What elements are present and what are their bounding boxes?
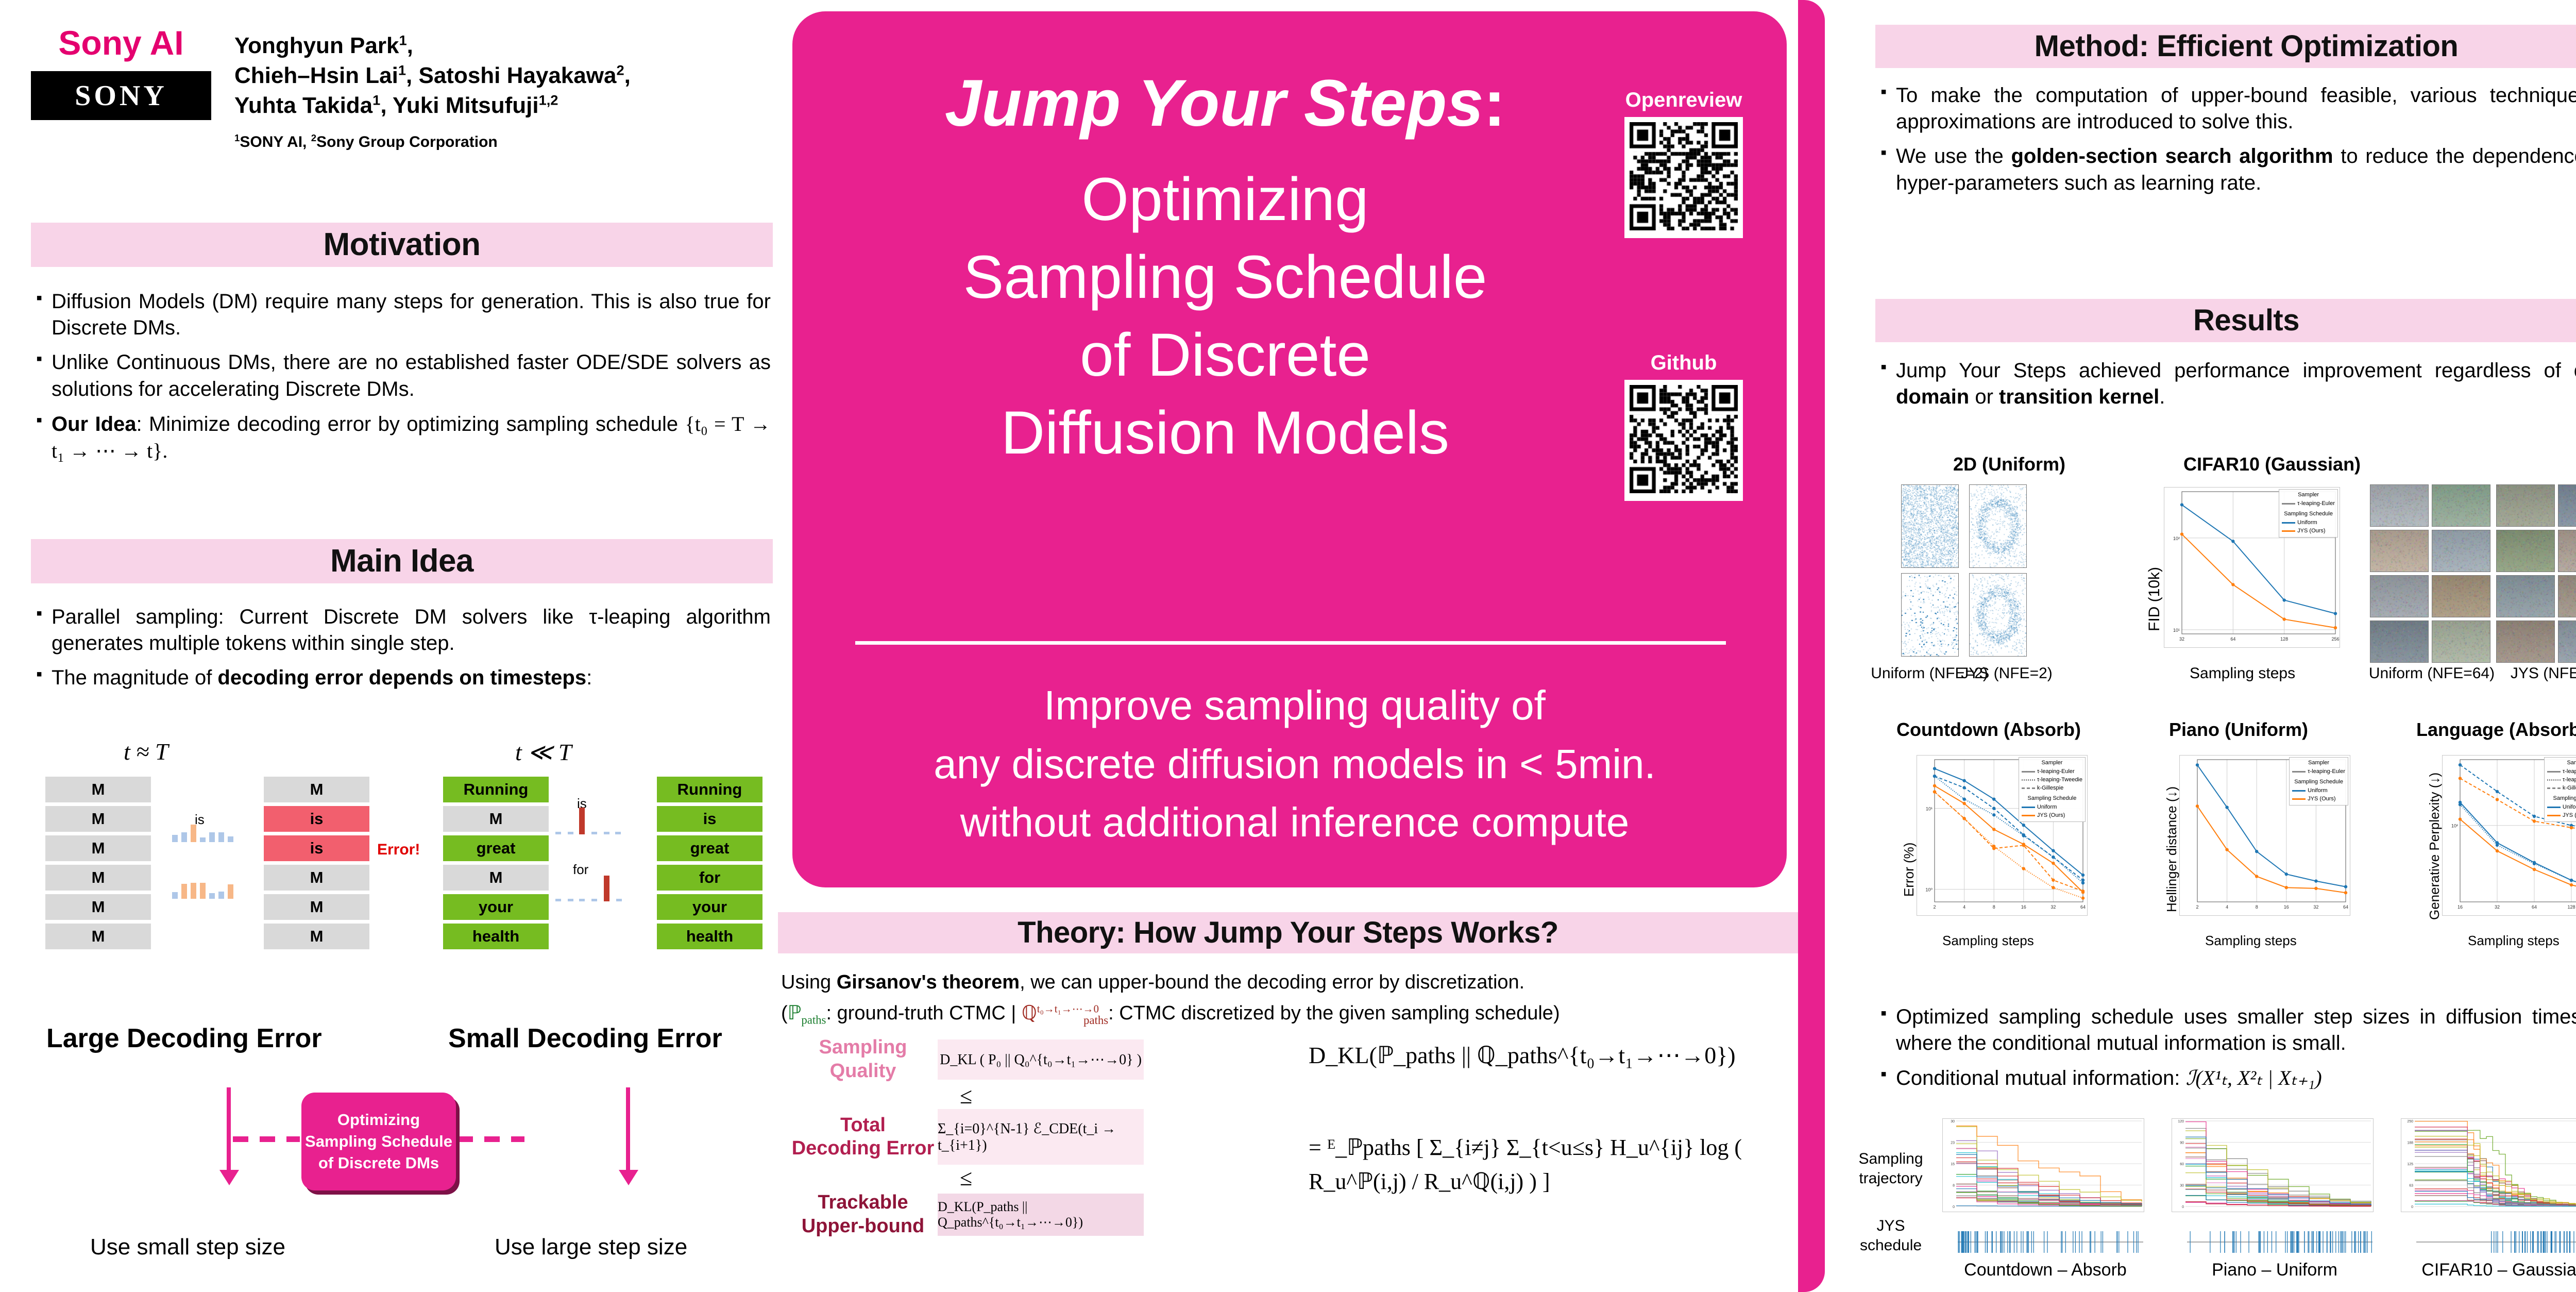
section-header-method: Method: Efficient Optimization xyxy=(1875,25,2576,68)
title-colon: : xyxy=(1483,66,1505,140)
Q-description: : CTMC discretized by the given sampling… xyxy=(1108,1002,1560,1024)
label-line: Total xyxy=(788,1114,938,1137)
Q-symbol: ℚ xyxy=(1022,1002,1037,1024)
section-header-main-idea: Main Idea xyxy=(31,539,773,583)
token-cell: M xyxy=(45,777,151,802)
cifar-thumbnail xyxy=(2497,485,2554,526)
legend-swatch xyxy=(2547,771,2561,773)
token-diagram: t ≈ T t ≪ T MMMMMM MisisMMM Error! is xyxy=(31,738,773,1006)
xlabel-sampling-steps-cifar: Sampling steps xyxy=(2190,665,2295,682)
cifar-sample-tile xyxy=(2432,620,2490,663)
legend-swatch xyxy=(2022,771,2035,773)
cifar-sample-tile xyxy=(2558,575,2576,617)
cifar-thumbnail xyxy=(2497,576,2554,617)
svg-text:0: 0 xyxy=(1953,1205,1955,1209)
scatter-tile-jys-bottom xyxy=(1969,573,2027,657)
svg-text:16: 16 xyxy=(2284,904,2289,910)
svg-text:30: 30 xyxy=(1951,1120,1955,1123)
cifar-thumbnail xyxy=(2558,485,2576,526)
author-list: Yonghyun Park1, Chieh–Hsin Lai1, Satoshi… xyxy=(234,31,760,153)
legend-label: Uniform xyxy=(2037,803,2057,812)
chart-legend: Samplerτ-leaping-Eulerτ-leaping-Tweediek… xyxy=(2544,757,2576,822)
error-label: Error! xyxy=(377,841,420,859)
author-name: Chieh–Hsin Lai xyxy=(234,63,398,88)
poster-tagline: Improve sampling quality of any discrete… xyxy=(841,676,1748,852)
token-column-left-masked: MMMMMM xyxy=(45,777,151,953)
affil-marker-1: 1 xyxy=(234,132,240,143)
xlabel-sampling-steps-language: Sampling steps xyxy=(2468,933,2560,949)
dashed-connector-right xyxy=(457,1136,524,1142)
token-cell: is xyxy=(657,806,762,832)
token-cell: M xyxy=(45,894,151,920)
svg-text:32: 32 xyxy=(2495,904,2500,910)
trajectory-plot-countdown: 08152330 xyxy=(1942,1118,2144,1212)
author-line-1: Yonghyun Park1, xyxy=(234,31,760,61)
legend-entry: τ-leaping-Euler xyxy=(2547,768,2576,776)
bullet-item-our-idea: Our Idea: Minimize decoding error by opt… xyxy=(34,411,771,464)
scatter-canvas xyxy=(1970,485,2026,567)
bullet-item: To make the computation of upper-bound f… xyxy=(1878,82,2576,135)
legend-label: τ-leaping-Euler xyxy=(2308,768,2345,776)
legend-swatch xyxy=(2022,779,2035,781)
schedule-ticks-countdown xyxy=(1958,1229,2143,1255)
xlabel-sampling-steps-countdown: Sampling steps xyxy=(1942,933,2034,949)
author-name: Yuki Mitsufuji xyxy=(393,93,539,118)
transition-kernel-label: transition kernel xyxy=(1999,385,2159,408)
main-idea-bullets: Parallel sampling: Current Discrete DM s… xyxy=(34,604,771,700)
token-cell: M xyxy=(264,894,369,920)
cifar-sample-tile xyxy=(2370,620,2429,663)
token-cell: Running xyxy=(657,777,762,802)
legend-label: τ-leaping-Euler xyxy=(2297,500,2335,508)
legend-label: JYS (Ours) xyxy=(2563,812,2576,820)
decoding-error-label: decoding error depends on timesteps xyxy=(217,666,586,689)
figure-title-cifar10: CIFAR10 (Gaussian) xyxy=(2112,454,2432,475)
cifar-sample-tile xyxy=(2432,530,2490,572)
prob-hist-left-1 xyxy=(170,810,245,842)
svg-text:10⁰: 10⁰ xyxy=(1925,887,1933,893)
t-approx-T-caption: t ≈ T xyxy=(124,738,168,765)
bullet-item: Parallel sampling: Current Discrete DM s… xyxy=(34,604,771,657)
cifar-sample-tile xyxy=(2558,620,2576,663)
P-symbol: ℙ xyxy=(788,1002,802,1024)
cifar-sample-tile xyxy=(2496,575,2555,617)
legend-label: Uniform xyxy=(2563,803,2576,812)
tagline-line: Improve sampling quality of xyxy=(841,676,1748,735)
label-line: JYS xyxy=(1844,1216,1937,1236)
svg-text:23: 23 xyxy=(1951,1142,1955,1145)
figure-title-language: Language (Absorb) xyxy=(2380,719,2576,741)
svg-text:30: 30 xyxy=(2180,1184,2184,1188)
svg-text:32: 32 xyxy=(2179,636,2184,642)
poster-subtitle: Optimizing Sampling Schedule of Discrete… xyxy=(841,161,1609,472)
legend-entry: Uniform xyxy=(2547,803,2576,812)
svg-text:64: 64 xyxy=(2532,904,2537,910)
cifar-thumbnail xyxy=(2370,621,2428,662)
theory-intro: Using Girsanov's theorem, we can upper-b… xyxy=(781,969,1806,1029)
legend-label: k-Gillespie xyxy=(2037,784,2063,793)
bullet-item: The magnitude of decoding error depends … xyxy=(34,665,771,691)
legend-entry: k-Gillespie xyxy=(2547,784,2576,793)
cifar-thumbnail xyxy=(2432,576,2490,617)
token-cell: your xyxy=(657,894,762,920)
svg-text:256: 256 xyxy=(2331,636,2339,642)
trajectory-caption-piano: Piano – Uniform xyxy=(2182,1260,2367,1280)
token-column-left-decoded: MisisMMM xyxy=(264,777,369,953)
hero-divider xyxy=(855,641,1726,645)
scatter-canvas xyxy=(1970,574,2026,656)
our-idea-label: Our Idea xyxy=(52,413,137,435)
cifar-sample-tile xyxy=(2432,484,2490,527)
arrow-head-left xyxy=(219,1170,239,1185)
relation-le-1: ≤ xyxy=(788,1083,1144,1109)
t-much-less-T-caption: t ≪ T xyxy=(515,738,572,766)
trajectory-plot-cifar: 063125188250 xyxy=(2401,1118,2576,1212)
caption-jys-nfe64: JYS (NFE=64) xyxy=(2499,665,2576,682)
github-qr-block[interactable]: Github xyxy=(1624,351,1743,501)
hero-panel: Jump Your Steps: Optimizing Sampling Sch… xyxy=(792,11,1787,887)
scatter-canvas xyxy=(1902,574,1958,656)
poster-root: Sony AI SONY Yonghyun Park1, Chieh–Hsin … xyxy=(0,0,2576,1292)
theory-intro-line: Using Girsanov's theorem, we can upper-b… xyxy=(781,969,1806,997)
results-mid: or xyxy=(1969,385,1999,408)
label-line: Sampling xyxy=(788,1036,938,1060)
token-column-right-masked: RunningMgreatMyourhealth xyxy=(443,777,549,953)
total-decoding-error-label: Total Decoding Error xyxy=(788,1114,938,1161)
cifar-sample-tile xyxy=(2370,484,2429,527)
legend-entry: JYS (Ours) xyxy=(2022,812,2082,820)
chart-language-absorb: 10²163264128256Samplerτ-leaping-Eulerτ-l… xyxy=(2442,755,2576,916)
Q-subscript: paths xyxy=(1083,1014,1108,1027)
legend-entry: Uniform xyxy=(2292,787,2345,795)
cifar-sample-tile xyxy=(2370,530,2429,572)
token-cell: Running xyxy=(443,777,549,802)
token-cell: M xyxy=(264,865,369,891)
legend-swatch xyxy=(2022,807,2035,808)
cmi-formula: ℐ(X¹ₜ, X²ₜ | Xₜ₊₁) xyxy=(2186,1066,2322,1089)
eq-row-3: Trackable Upper-bound D_KL(P_paths || Q_… xyxy=(788,1191,1303,1238)
optimizing-schedule-box: Optimizing Sampling Schedule of Discrete… xyxy=(301,1093,456,1190)
svg-text:32: 32 xyxy=(2313,904,2318,910)
sampling-trajectory-label: Sampling trajectory xyxy=(1839,1149,1942,1188)
legend-swatch xyxy=(2282,503,2295,505)
brand-logos: Sony AI SONY xyxy=(31,14,211,120)
legend-entry: JYS (Ours) xyxy=(2547,812,2576,820)
svg-text:16: 16 xyxy=(2458,904,2463,910)
legend-label: τ-leaping-Tweedie xyxy=(2037,776,2082,784)
author-name: Yuhta Takida xyxy=(234,93,372,118)
author-affil-marker: 2 xyxy=(616,62,624,78)
legend-label: τ-leaping-Euler xyxy=(2563,768,2576,776)
trackable-upper-bound-formula: D_KL(P_paths || Q_paths^{t₀→t₁→⋯→0}) xyxy=(938,1194,1144,1236)
author-line-3: Yuhta Takida1, Yuki Mitsufuji1,2 xyxy=(234,91,760,121)
figure-title-countdown: Countdown (Absorb) xyxy=(1865,719,2112,741)
sampling-quality-label: Sampling Quality xyxy=(788,1036,938,1083)
cifar-sample-tile xyxy=(2558,484,2576,527)
cifar-thumbnail xyxy=(2558,621,2576,662)
legend-label: Uniform xyxy=(2297,519,2317,527)
legend-label: Uniform xyxy=(2308,787,2328,795)
svg-text:10²: 10² xyxy=(2173,536,2180,541)
subtitle-line: of Discrete xyxy=(841,316,1609,394)
token-cell: M xyxy=(443,865,549,891)
svg-text:4: 4 xyxy=(2226,904,2228,910)
legend-label: k-Gillespie xyxy=(2563,784,2576,793)
legend-entry: Uniform xyxy=(2282,519,2335,527)
cifar-thumbnail xyxy=(2432,530,2490,572)
openreview-label: Openreview xyxy=(1624,89,1743,112)
main-equation-lhs: D_KL(ℙ_paths || ℚ_paths^{t₀→t₁→⋯→0}) xyxy=(1309,1041,1803,1069)
svg-text:8: 8 xyxy=(1953,1184,1955,1188)
tagline-line: any discrete diffusion models in < 5min. xyxy=(841,735,1748,794)
svg-text:188: 188 xyxy=(2407,1142,2413,1145)
token-cell: health xyxy=(657,924,762,949)
legend-swatch xyxy=(2282,522,2295,524)
scatter-tile-jys-top xyxy=(1969,484,2027,568)
subtitle-line: Optimizing xyxy=(841,161,1609,239)
motivation-bullets: Diffusion Models (DM) require many steps… xyxy=(34,289,771,473)
xlabel-sampling-steps-piano: Sampling steps xyxy=(2205,933,2297,949)
bullet-item: Diffusion Models (DM) require many steps… xyxy=(34,289,771,341)
chart-legend: Samplerτ-leaping-Eulerτ-leaping-Tweediek… xyxy=(2019,757,2086,822)
svg-text:128: 128 xyxy=(2280,636,2288,642)
legend-entry: τ-leaping-Tweedie xyxy=(2022,776,2082,784)
legend-label: τ-leaping-Tweedie xyxy=(2563,776,2576,784)
caption-uniform-nfe64: Uniform (NFE=64) xyxy=(2365,665,2499,682)
results-pre: Jump Your Steps achieved performance imp… xyxy=(1896,359,2574,382)
svg-text:10²: 10² xyxy=(2451,824,2458,829)
optbox-line-3: of Discrete DMs xyxy=(305,1152,452,1174)
ylabel-fid: FID (10k) xyxy=(2146,567,2163,631)
scatter-tile-uniform-bottom xyxy=(1901,573,1959,657)
total-decoding-error-formula: Σ_{i=0}^{N-1} ℰ_CDE(t_i → t_{i+1}) xyxy=(938,1109,1144,1165)
prob-hist-right-1 xyxy=(552,802,624,834)
cifar-sample-tile xyxy=(2432,575,2490,617)
main-equation: D_KL(ℙ_paths || ℚ_paths^{t₀→t₁→⋯→0}) = ᴱ… xyxy=(1309,1041,1803,1199)
svg-text:63: 63 xyxy=(2409,1184,2413,1188)
cifar-thumbnail xyxy=(2558,530,2576,572)
bullet-item: Conditional mutual information: ℐ(X¹ₜ, X… xyxy=(1878,1065,2576,1092)
cifar-thumbnail xyxy=(2370,530,2428,572)
cifar-sample-tile xyxy=(2496,530,2555,572)
sony-ai-logo: Sony AI xyxy=(31,14,211,71)
subtitle-line: Diffusion Models xyxy=(841,394,1609,472)
github-label: Github xyxy=(1624,351,1743,375)
theory-equation-chain: Sampling Quality D_KL ( P₀ || Q₀^{t₀→t₁→… xyxy=(788,1036,1303,1238)
bullet-item: Jump Your Steps achieved performance imp… xyxy=(1878,358,2576,410)
token-cell: M xyxy=(264,777,369,802)
github-qr-code[interactable] xyxy=(1624,380,1743,501)
affiliations: 1SONY AI, 2Sony Group Corporation xyxy=(234,132,760,153)
scatter-tile-uniform-top xyxy=(1901,484,1959,568)
legend-entry: JYS (Ours) xyxy=(2282,527,2335,535)
legend-entry: τ-leaping-Tweedie xyxy=(2547,776,2576,784)
token-cell: M xyxy=(45,924,151,949)
cifar-thumbnail xyxy=(2497,621,2554,662)
section-header-results: Results xyxy=(1875,299,2576,342)
trajectory-caption-cifar: CIFAR10 – Gaussian xyxy=(2411,1260,2576,1280)
relation-le-2: ≤ xyxy=(788,1165,1144,1191)
bullet-item: Unlike Continuous DMs, there are no esta… xyxy=(34,349,771,402)
svg-text:128: 128 xyxy=(2567,904,2575,910)
P-subscript: paths xyxy=(801,1014,826,1027)
colon-text: : xyxy=(586,666,592,689)
label-line: Upper-bound xyxy=(788,1215,938,1238)
section-header-theory: Theory: How Jump Your Steps Works? xyxy=(778,912,1798,953)
svg-text:4: 4 xyxy=(1963,904,1965,910)
title-emphasis: Jump Your Steps xyxy=(945,66,1484,140)
chart-piano-uniform: 248163264Samplerτ-leaping-EulerSampling … xyxy=(2179,755,2350,916)
our-idea-text: : Minimize decoding error by optimizing … xyxy=(137,413,685,435)
theory-post: , we can upper-bound the decoding error … xyxy=(1020,971,1524,993)
section-header-motivation: Motivation xyxy=(31,223,773,267)
ylabel-error: Error (%) xyxy=(1901,843,1917,897)
token-cell: for xyxy=(657,865,762,891)
theory-pre: Using xyxy=(781,971,837,993)
cifar-sample-tile xyxy=(2496,484,2555,527)
affil-marker-2: 2 xyxy=(311,132,316,143)
label-line: trajectory xyxy=(1839,1169,1942,1188)
token-cell: your xyxy=(443,894,549,920)
label-line: Trackable xyxy=(788,1191,938,1215)
legend-swatch xyxy=(2022,815,2035,816)
affil-text-1: SONY AI, xyxy=(240,133,311,150)
golden-section-label: golden-section search algorithm xyxy=(2011,145,2333,167)
Q-superscript: t₀→t₁→⋯→0 xyxy=(1037,1002,1099,1015)
svg-text:16: 16 xyxy=(2021,904,2026,910)
svg-text:10¹: 10¹ xyxy=(1926,807,1933,812)
token-cell: M xyxy=(264,924,369,949)
author-name: Satoshi Hayakawa xyxy=(418,63,616,88)
subtitle-line: Sampling Schedule xyxy=(841,239,1609,316)
prob-hist-right-2 xyxy=(552,869,624,901)
cifar-thumbnail xyxy=(2497,530,2554,572)
sampling-quality-formula: D_KL ( P₀ || Q₀^{t₀→t₁→⋯→0} ) xyxy=(938,1039,1144,1080)
legend-entry: τ-leaping-Euler xyxy=(2022,768,2082,776)
legend-label: JYS (Ours) xyxy=(2037,812,2065,820)
cifar-sample-tile xyxy=(2496,620,2555,663)
trajectory-caption-countdown: Countdown – Absorb xyxy=(1953,1260,2138,1280)
figure-title-piano: Piano (Uniform) xyxy=(2123,719,2354,741)
cifar-thumbnail xyxy=(2370,485,2428,526)
token-column-right-decoded: Runningisgreatforyourhealth xyxy=(657,777,762,953)
chart-legend: Samplerτ-leaping-EulerSampling ScheduleU… xyxy=(2279,489,2338,538)
legend-open-paren: ( xyxy=(781,1002,788,1024)
legend-swatch xyxy=(2547,779,2561,781)
trackable-upper-bound-label: Trackable Upper-bound xyxy=(788,1191,938,1238)
author-affil-marker: 1 xyxy=(399,32,406,48)
token-cell: M xyxy=(45,806,151,832)
svg-text:60: 60 xyxy=(2180,1163,2184,1166)
cifar-thumbnail xyxy=(2558,576,2576,617)
svg-text:2: 2 xyxy=(2196,904,2198,910)
results-post: . xyxy=(2159,385,2165,408)
chart-countdown-absorb: 10⁰10¹248163264Samplerτ-leaping-Eulerτ-l… xyxy=(1917,755,2088,916)
ylabel-perplexity: Generative Perplexity (↓) xyxy=(2427,773,2443,920)
caption-jys-nfe2: JYS (NFE=2) xyxy=(1953,665,2061,682)
dashed-connector-left xyxy=(233,1136,300,1142)
author-line-2: Chieh–Hsin Lai1, Satoshi Hayakawa2, xyxy=(234,61,760,91)
legend-group-title: Sampling Schedule xyxy=(2022,795,2082,803)
legend-swatch xyxy=(2292,771,2306,773)
arrow-shaft-left xyxy=(227,1087,231,1172)
svg-text:90: 90 xyxy=(2180,1142,2184,1145)
bullet-item: We use the golden-section search algorit… xyxy=(1878,143,2576,196)
legend-swatch xyxy=(2282,530,2295,532)
tagline-line: without additional inference compute xyxy=(841,793,1748,852)
cifar-thumbnail xyxy=(2432,621,2490,662)
legend-swatch xyxy=(2547,807,2561,808)
label-line: Quality xyxy=(788,1060,938,1083)
token-cell: M xyxy=(45,865,151,891)
figure-title-2d: 2D (Uniform) xyxy=(1875,454,2143,475)
legend-entry: τ-leaping-Euler xyxy=(2282,500,2335,508)
author-affil-marker: 1,2 xyxy=(539,92,558,108)
chart-cifar10-fid: 10¹10²3264128256Samplerτ-leaping-EulerSa… xyxy=(2164,487,2340,648)
author-name: Yonghyun Park xyxy=(234,33,399,58)
legend-group-title: Sampler xyxy=(2282,491,2335,499)
cmi-text: Conditional mutual information: xyxy=(1896,1067,2186,1089)
main-equation-rhs: = ᴱ_ℙpaths [ Σ_{i≠j} Σ_{t<u≤s} H_u^{ij} … xyxy=(1309,1131,1803,1199)
jys-schedule-label: JYS schedule xyxy=(1844,1216,1937,1255)
ylabel-hellinger: Hellinger distance (↓) xyxy=(2164,786,2180,912)
legend-entry: τ-leaping-Euler xyxy=(2292,768,2345,776)
token-cell: is xyxy=(264,835,369,861)
legend-group-title: Sampling Schedule xyxy=(2282,510,2335,518)
small-decoding-error-title: Small Decoding Error xyxy=(448,1023,722,1054)
svg-text:250: 250 xyxy=(2407,1120,2413,1123)
token-cell: M xyxy=(45,835,151,861)
cifar-thumbnail xyxy=(2370,576,2428,617)
chart-legend: Samplerτ-leaping-EulerSampling ScheduleU… xyxy=(2289,757,2348,806)
P-description: : ground-truth CTMC | xyxy=(826,1002,1021,1024)
legend-label: τ-leaping-Euler xyxy=(2037,768,2075,776)
cifar-sample-tile xyxy=(2558,530,2576,572)
legend-group-title: Sampler xyxy=(2022,759,2082,767)
token-cell: great xyxy=(657,835,762,861)
label-line: Decoding Error xyxy=(788,1137,938,1161)
girsanov-label: Girsanov's theorem xyxy=(837,971,1020,993)
use-small-step-label: Use small step size xyxy=(90,1234,285,1260)
label-line: schedule xyxy=(1844,1236,1937,1255)
svg-text:64: 64 xyxy=(2080,904,2086,910)
author-affil-marker: 1 xyxy=(398,62,406,78)
svg-text:64: 64 xyxy=(2230,636,2235,642)
svg-text:32: 32 xyxy=(2050,904,2056,910)
schedule-ticks-piano xyxy=(2187,1229,2372,1255)
legend-group-title: Sampling Schedule xyxy=(2547,795,2576,803)
svg-text:15: 15 xyxy=(1951,1163,1955,1166)
token-cell: is xyxy=(264,806,369,832)
openreview-qr-code[interactable] xyxy=(1624,117,1743,238)
legend-swatch xyxy=(2022,787,2035,789)
svg-text:125: 125 xyxy=(2407,1163,2413,1166)
cifar-sample-tile xyxy=(2370,575,2429,617)
legend-label: JYS (Ours) xyxy=(2308,795,2335,803)
legend-swatch xyxy=(2292,790,2306,792)
openreview-qr-block[interactable]: Openreview xyxy=(1624,89,1743,238)
svg-text:8: 8 xyxy=(1993,904,1995,910)
prob-hist-left-2 xyxy=(170,867,245,899)
legend-label: JYS (Ours) xyxy=(2297,527,2325,535)
label-line: Sampling xyxy=(1839,1149,1942,1169)
arrow-head-right xyxy=(619,1170,638,1185)
svg-text:0: 0 xyxy=(2411,1205,2413,1209)
optbox-line-1: Optimizing xyxy=(305,1109,452,1131)
scatter-canvas xyxy=(1902,485,1958,567)
cifar-thumbnail xyxy=(2432,485,2490,526)
legend-swatch xyxy=(2547,787,2561,789)
